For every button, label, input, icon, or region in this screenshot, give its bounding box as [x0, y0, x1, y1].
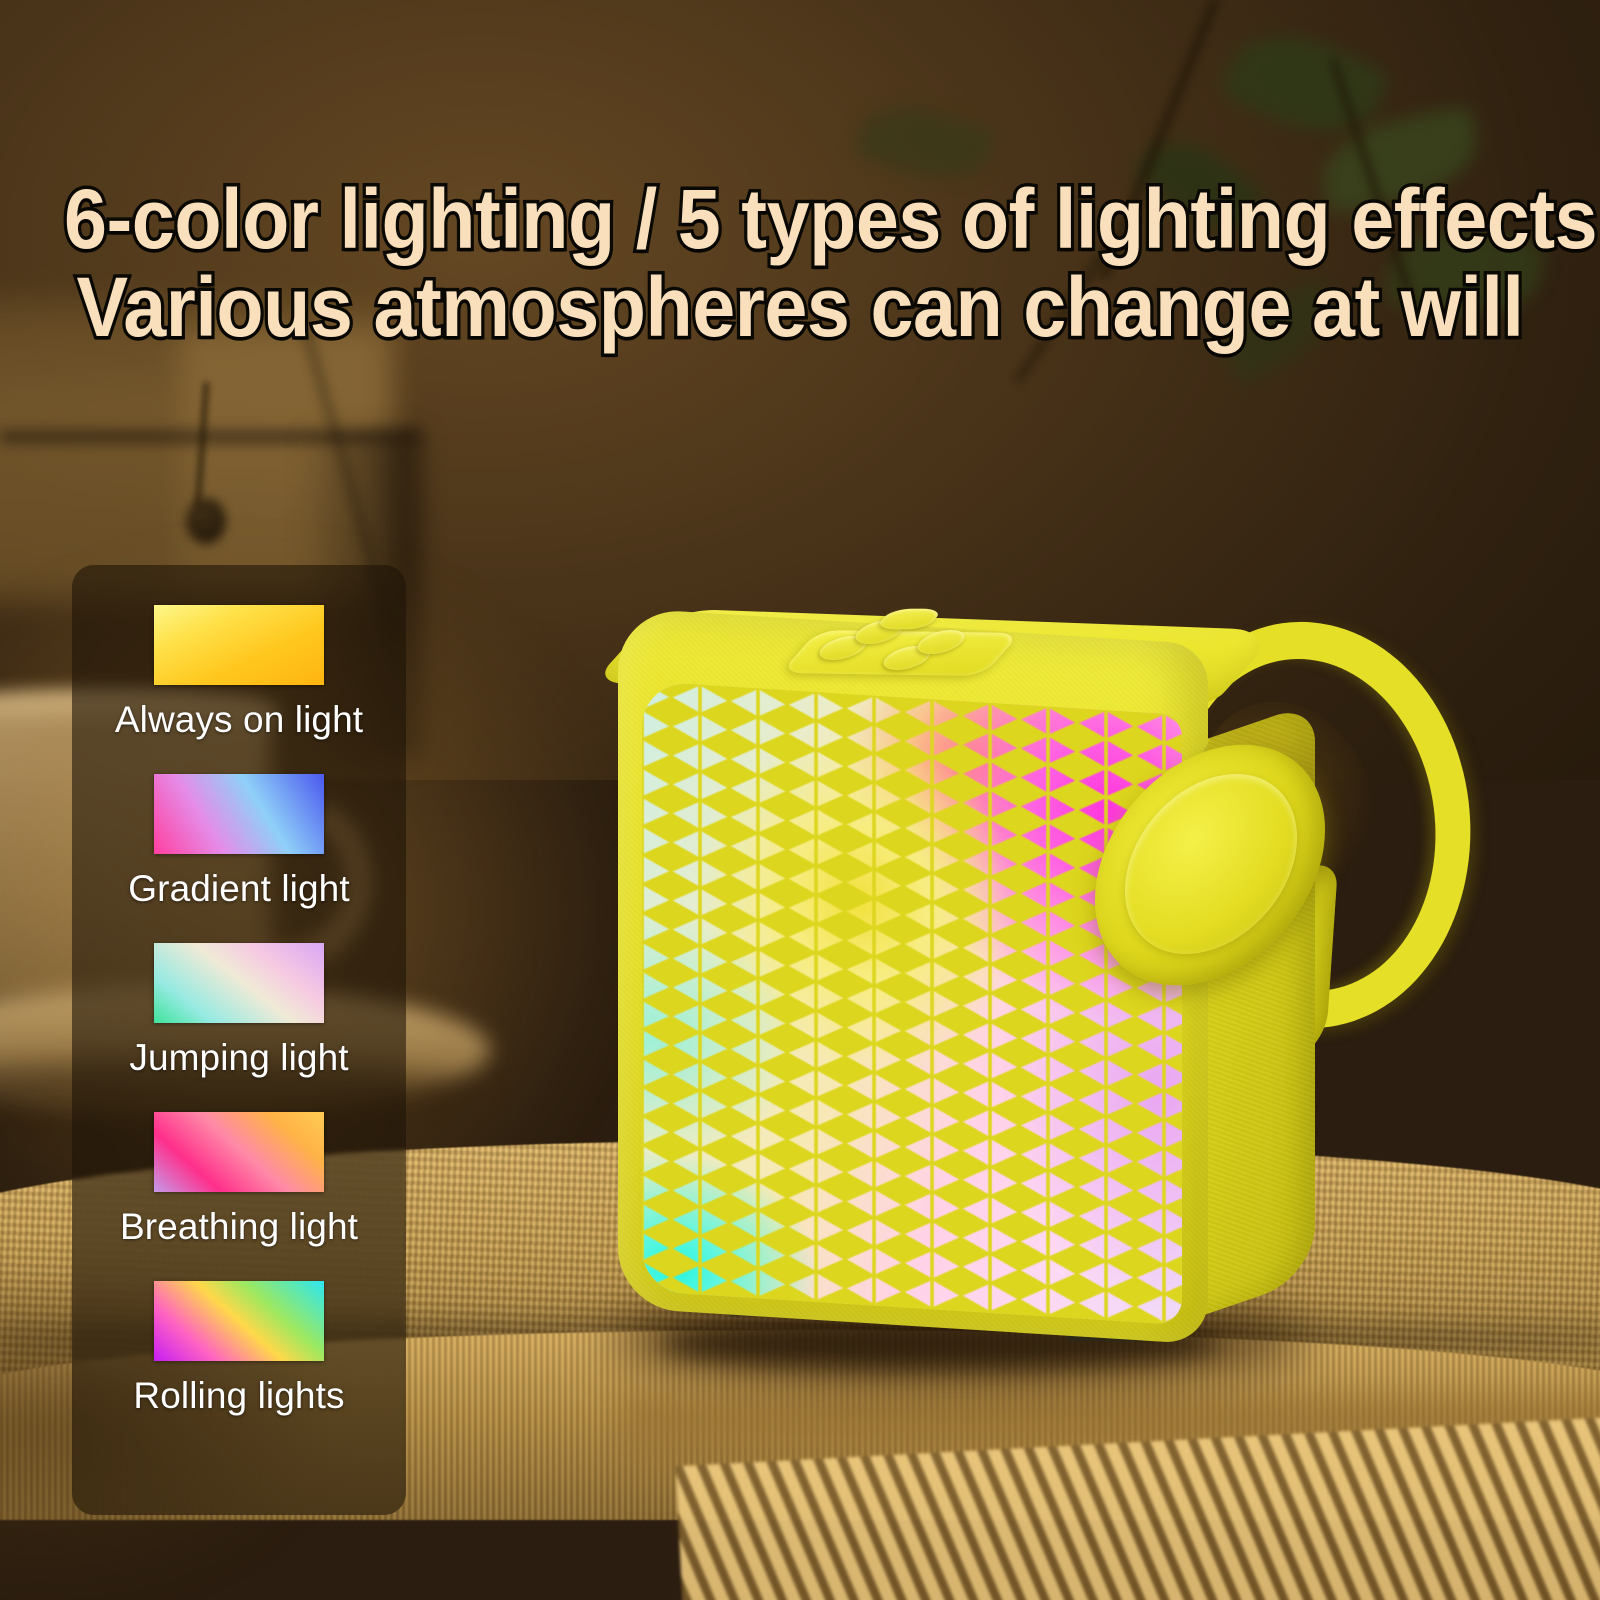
triangle-lattice-overlay	[642, 681, 1182, 1325]
effect-label: Breathing light	[72, 1208, 406, 1245]
effect-label: Rolling lights	[72, 1377, 406, 1414]
effect-item[interactable]: Gradient light	[72, 738, 406, 907]
effect-label: Always on light	[72, 701, 406, 738]
product-marketing-image: Always on light Gradient light Jumping l…	[0, 0, 1600, 1600]
speaker-product	[600, 600, 1360, 1390]
always-on-light-swatch	[154, 605, 324, 685]
jumping-light-swatch	[154, 943, 324, 1023]
effect-item[interactable]: Always on light	[72, 565, 406, 738]
effect-item[interactable]: Jumping light	[72, 907, 406, 1076]
lighting-effects-panel: Always on light Gradient light Jumping l…	[72, 565, 406, 1515]
rolling-lights-swatch	[154, 1281, 324, 1361]
breathing-light-swatch	[154, 1112, 324, 1192]
effect-label: Jumping light	[72, 1039, 406, 1076]
led-grille	[642, 681, 1182, 1325]
effect-item[interactable]: Rolling lights	[72, 1245, 406, 1414]
effect-item[interactable]: Breathing light	[72, 1076, 406, 1245]
effect-label: Gradient light	[72, 870, 406, 907]
pendant-bulb	[186, 498, 226, 544]
gradient-light-swatch	[154, 774, 324, 854]
